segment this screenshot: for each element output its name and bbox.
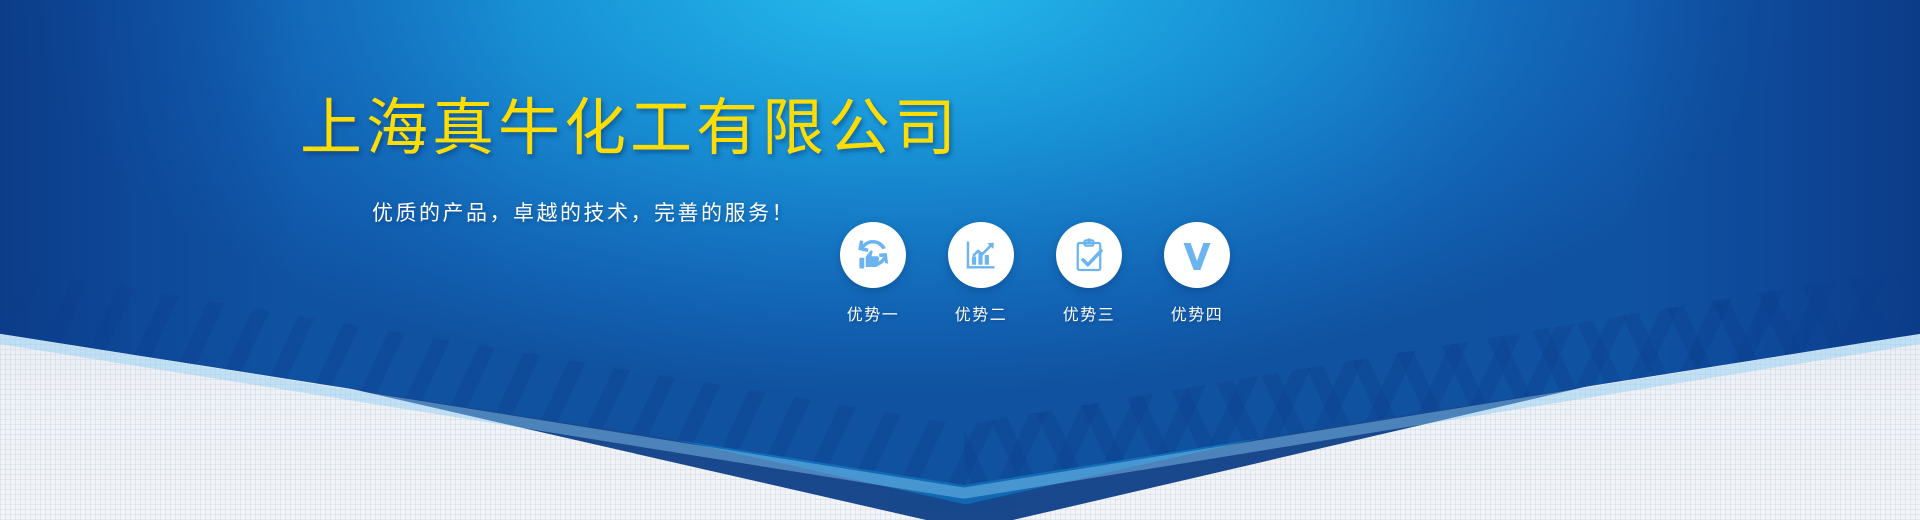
company-title: 上海真牛化工有限公司 bbox=[300, 96, 960, 163]
company-hero-banner: 上海真牛化工有限公司 优质的产品，卓越的技术，完善的服务！ 优势一 bbox=[0, 0, 1920, 520]
feature-label: 优势一 bbox=[847, 301, 900, 325]
feature-icon-circle bbox=[840, 222, 906, 288]
feature-item-4[interactable]: 优势四 bbox=[1160, 222, 1234, 325]
feature-icon-circle bbox=[1164, 222, 1230, 288]
v-check-icon bbox=[1179, 237, 1215, 273]
feature-label: 优势四 bbox=[1171, 301, 1224, 325]
clipboard-check-icon bbox=[1071, 237, 1107, 273]
feature-icon-circle bbox=[948, 222, 1014, 288]
refresh-thumbsup-icon bbox=[854, 236, 892, 274]
feature-label: 优势三 bbox=[1063, 301, 1116, 325]
feature-icon-circle bbox=[1056, 222, 1122, 288]
bar-chart-growth-icon bbox=[963, 237, 999, 273]
feature-item-2[interactable]: 优势二 bbox=[944, 222, 1018, 325]
feature-item-3[interactable]: 优势三 bbox=[1052, 222, 1126, 325]
feature-list: 优势一 优势 bbox=[836, 222, 1234, 325]
feature-item-1[interactable]: 优势一 bbox=[836, 222, 910, 325]
feature-label: 优势二 bbox=[955, 301, 1008, 325]
company-slogan: 优质的产品，卓越的技术，完善的服务！ bbox=[372, 197, 795, 227]
